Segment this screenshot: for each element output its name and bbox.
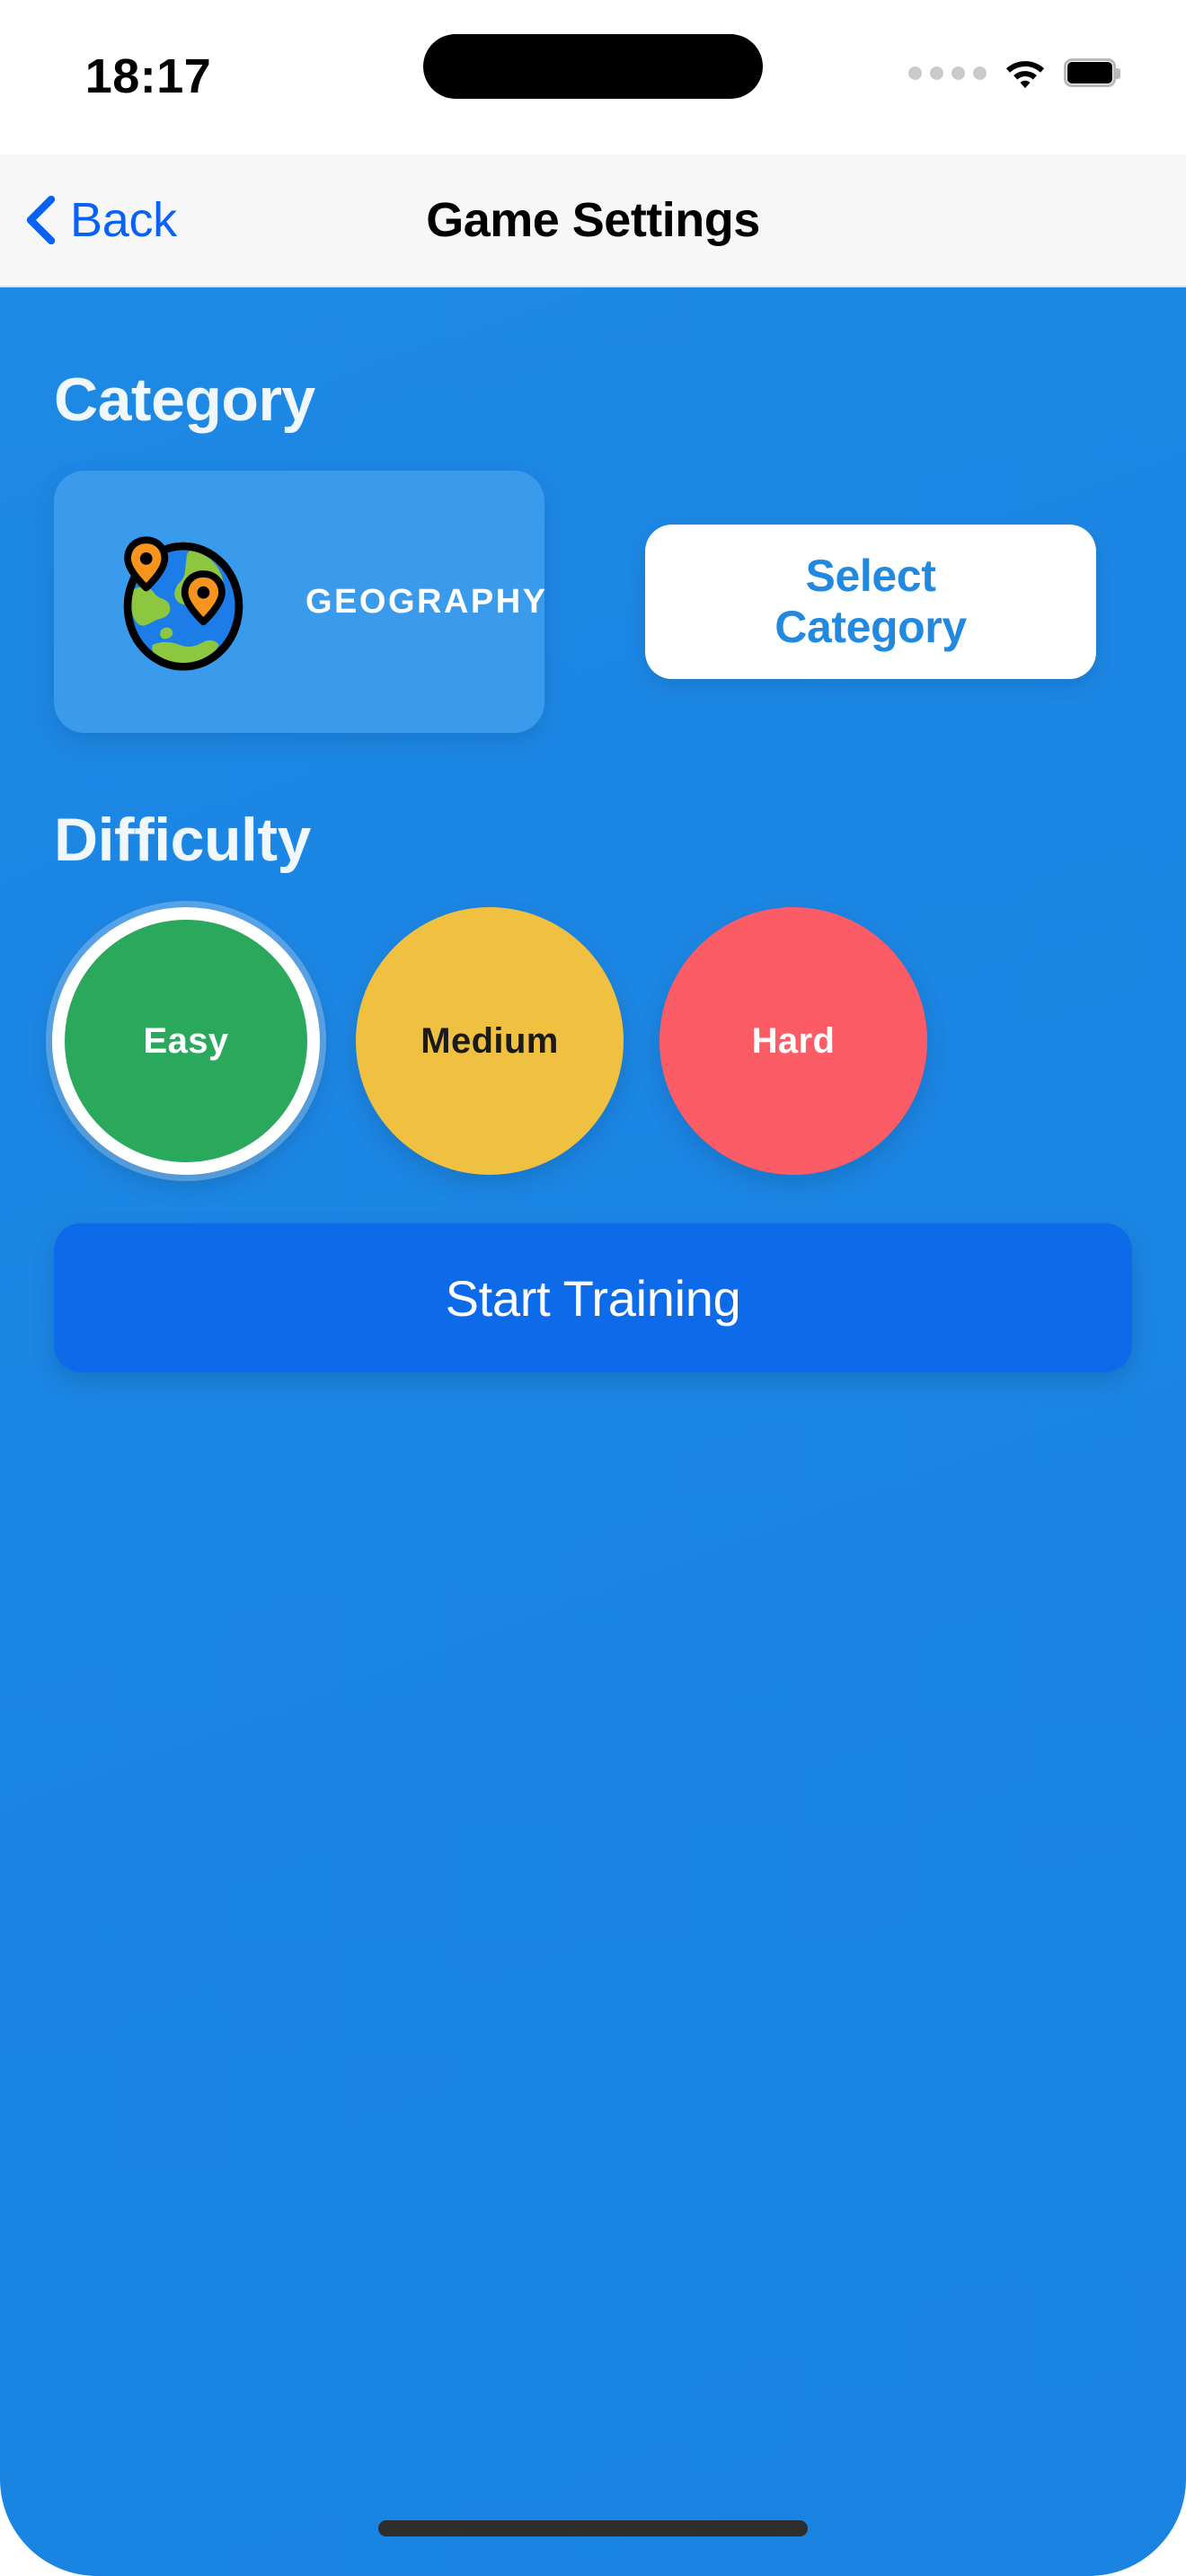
difficulty-option-hard[interactable]: Hard xyxy=(659,907,927,1175)
back-button[interactable]: Back xyxy=(25,192,177,248)
status-time: 18:17 xyxy=(0,49,296,104)
chevron-left-icon xyxy=(25,196,56,244)
category-row: GEOGRAPHY Select Category xyxy=(54,471,1132,733)
difficulty-option-easy[interactable]: Easy xyxy=(52,907,320,1175)
phone-screen: 18:17 Back Game Settings xyxy=(0,0,1186,2576)
select-category-button[interactable]: Select Category xyxy=(645,525,1096,679)
battery-full-icon xyxy=(1064,58,1120,87)
category-heading: Category xyxy=(54,365,1186,435)
selected-category-card[interactable]: GEOGRAPHY xyxy=(54,471,544,733)
difficulty-row: Easy Medium Hard xyxy=(52,907,1186,1175)
start-training-label: Start Training xyxy=(446,1269,741,1328)
difficulty-label-hard: Hard xyxy=(752,1021,836,1062)
difficulty-heading: Difficulty xyxy=(54,805,1186,875)
page-title: Game Settings xyxy=(0,192,1186,248)
category-name: GEOGRAPHY xyxy=(305,583,548,622)
globe-with-map-pins-icon xyxy=(106,525,261,679)
select-category-line2: Category xyxy=(774,602,967,653)
signal-dots-icon xyxy=(908,66,987,80)
start-training-button[interactable]: Start Training xyxy=(54,1223,1132,1372)
back-label: Back xyxy=(70,192,177,248)
difficulty-option-medium[interactable]: Medium xyxy=(356,907,624,1175)
dynamic-island xyxy=(423,34,763,99)
status-icons xyxy=(908,56,1120,90)
difficulty-label-medium: Medium xyxy=(420,1021,559,1062)
navigation-bar: Back Game Settings xyxy=(0,154,1186,287)
settings-content: Category GEOGRAPHY Select xyxy=(0,287,1186,2576)
home-indicator[interactable] xyxy=(378,2520,808,2536)
wifi-icon xyxy=(1003,56,1048,90)
status-bar: 18:17 xyxy=(0,0,1186,154)
difficulty-label-easy: Easy xyxy=(143,1021,228,1062)
select-category-line1: Select xyxy=(806,551,936,602)
